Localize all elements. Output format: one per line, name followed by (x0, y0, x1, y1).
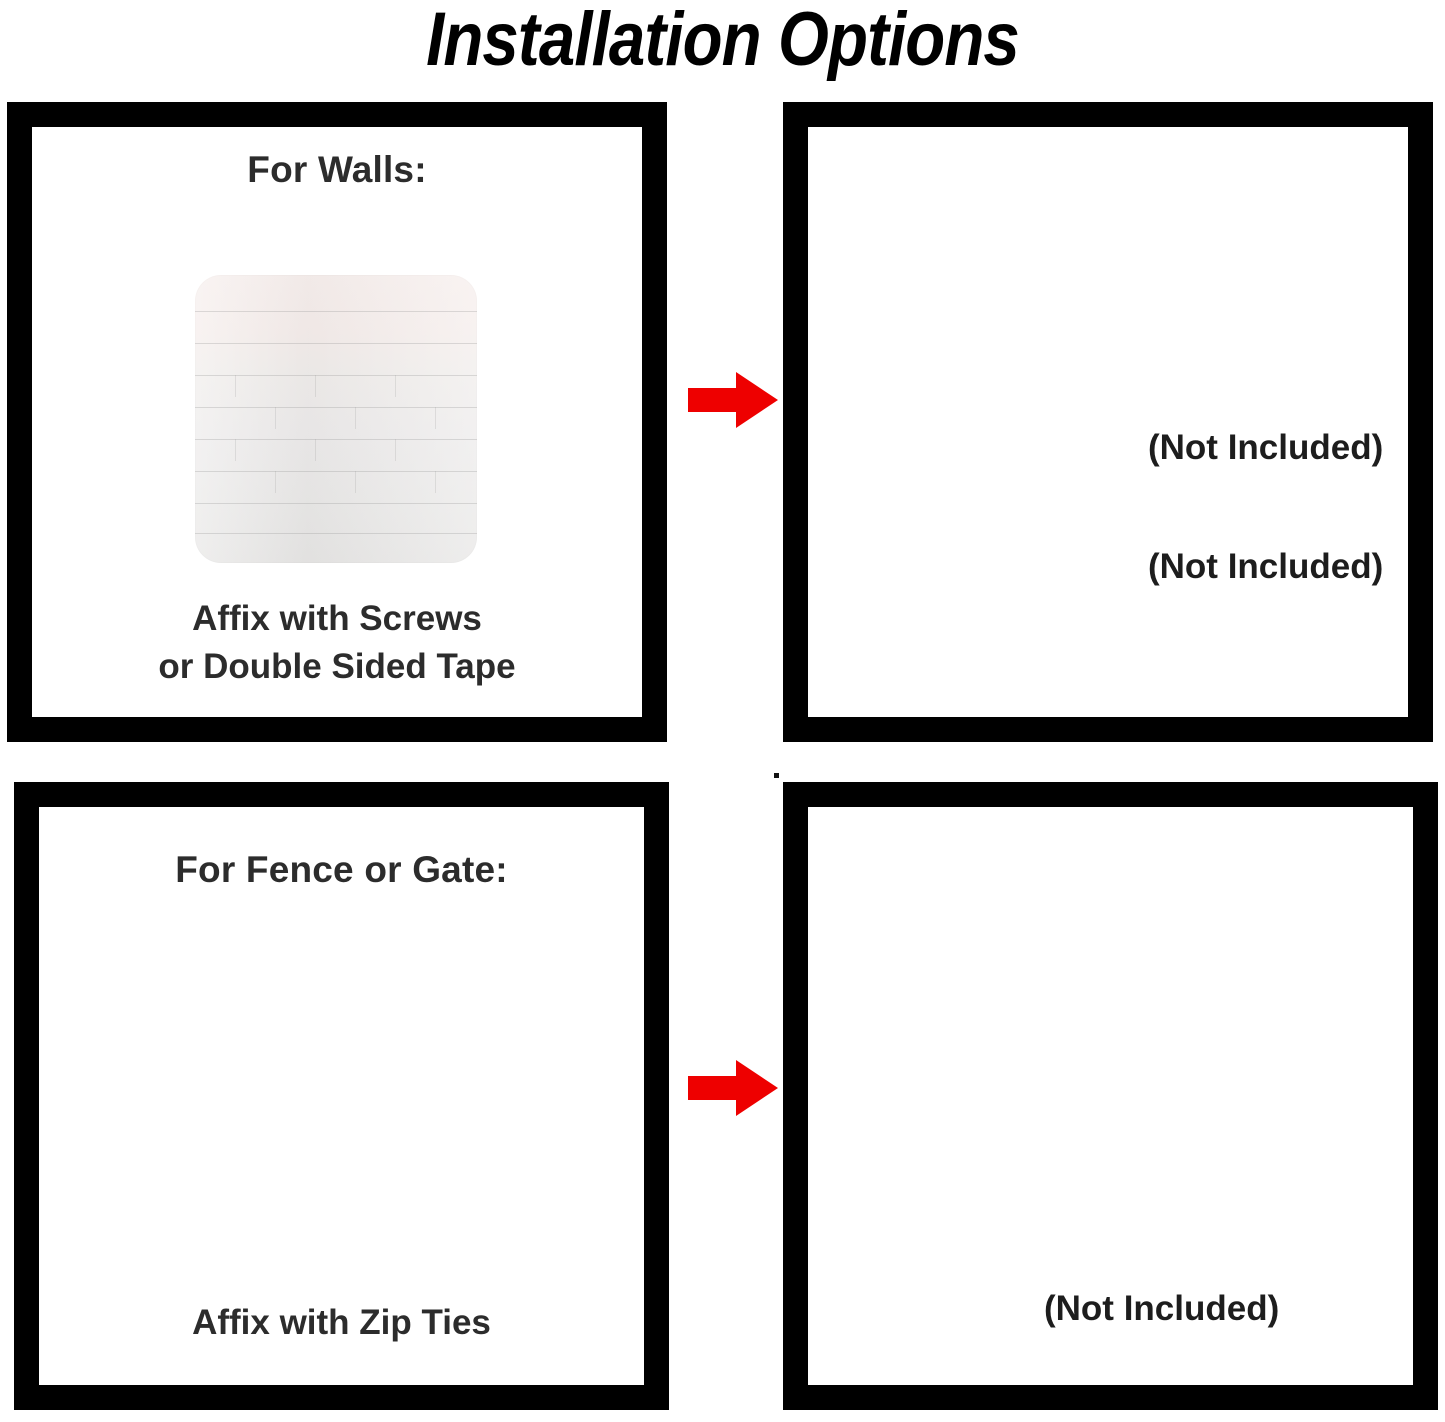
screws-not-included-label: (Not Included) (1148, 547, 1383, 587)
title-bar: Installation Options (0, 0, 1445, 92)
page-title: Installation Options (101, 0, 1344, 86)
for-walls-caption-line2: or Double Sided Tape (32, 643, 642, 691)
panel-wall-hardware-inner: (Not Included) (808, 127, 1408, 717)
tape-not-included-label: (Not Included) (1148, 428, 1383, 468)
panel-zip-ties-inner: (Not Included) (808, 807, 1413, 1385)
panel-zip-ties: (Not Included) (783, 782, 1438, 1410)
panel-for-walls-inner: For Walls: Affix with Screws or D (32, 127, 642, 717)
for-fence-heading: For Fence or Gate: (39, 849, 644, 891)
for-fence-caption: Affix with Zip Ties (39, 1299, 644, 1347)
panel-for-fence-or-gate-inner: For Fence or Gate: (39, 807, 644, 1385)
white-brick-wall-photo (195, 275, 477, 563)
arrow-right-icon (688, 372, 778, 428)
image-artifact-dot (774, 773, 779, 778)
arrow-right-icon (688, 1060, 778, 1116)
for-walls-caption-line1: Affix with Screws (32, 595, 642, 643)
panel-wall-hardware: (Not Included) (783, 102, 1433, 742)
panel-for-walls: For Walls: Affix with Screws or D (7, 102, 667, 742)
zipties-not-included-label: (Not Included) (1044, 1289, 1279, 1329)
panel-for-fence-or-gate: For Fence or Gate: (14, 782, 669, 1410)
for-walls-heading: For Walls: (32, 149, 642, 191)
